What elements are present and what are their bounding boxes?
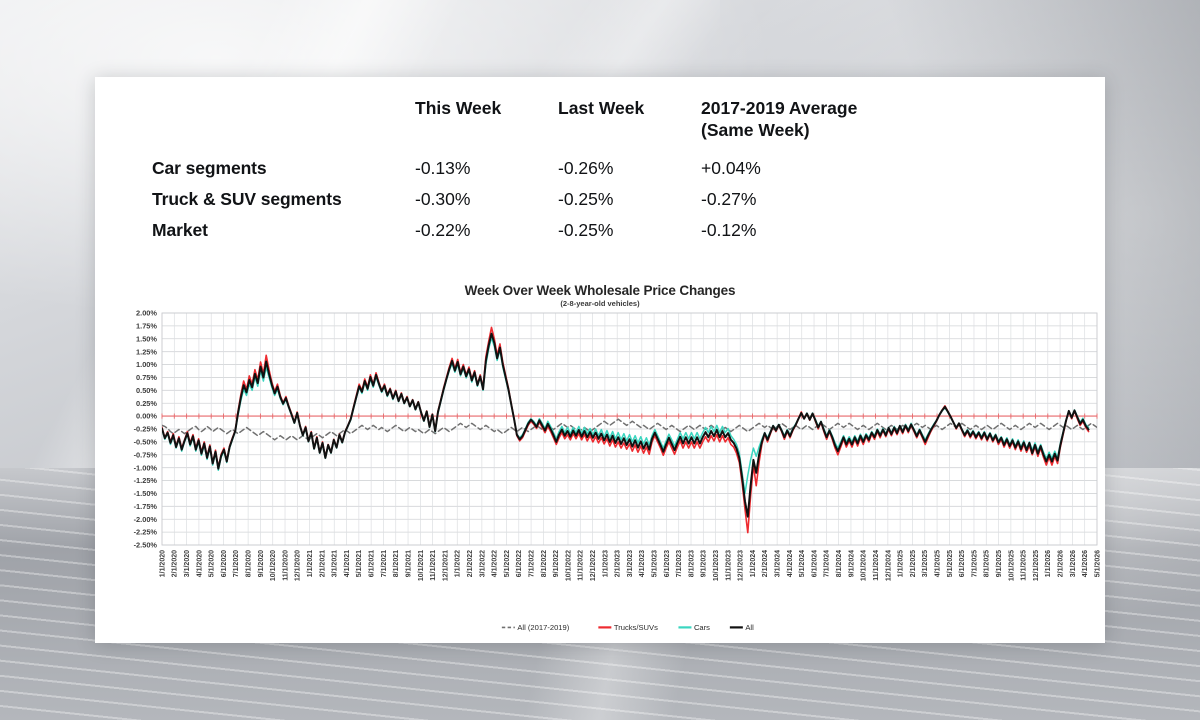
svg-text:7/1/2022: 7/1/2022 xyxy=(528,550,535,577)
svg-text:-1.25%: -1.25% xyxy=(134,476,158,485)
svg-text:1.25%: 1.25% xyxy=(136,347,157,356)
svg-text:4/1/2022: 4/1/2022 xyxy=(492,550,499,577)
svg-text:8/1/2025: 8/1/2025 xyxy=(984,550,991,577)
table-row: Market -0.22% -0.25% -0.12% xyxy=(95,220,1105,241)
svg-text:1/1/2020: 1/1/2020 xyxy=(159,550,166,577)
svg-text:3/1/2021: 3/1/2021 xyxy=(332,550,339,577)
svg-text:10/1/2025: 10/1/2025 xyxy=(1008,550,1015,581)
svg-text:1.50%: 1.50% xyxy=(136,334,157,343)
svg-text:11/1/2021: 11/1/2021 xyxy=(430,550,437,581)
chart-subtitle: (2-8-year-old vehicles) xyxy=(95,299,1105,308)
row-label-truck-suv-segments: Truck & SUV segments xyxy=(95,189,415,210)
svg-text:4/1/2024: 4/1/2024 xyxy=(787,550,794,577)
column-header-last-week: Last Week xyxy=(558,97,701,119)
content-card: This Week Last Week 2017-2019 Average (S… xyxy=(95,77,1105,643)
svg-text:0.50%: 0.50% xyxy=(136,386,157,395)
svg-text:2/1/2022: 2/1/2022 xyxy=(467,550,474,577)
svg-text:10/1/2024: 10/1/2024 xyxy=(861,550,868,581)
svg-text:2/1/2021: 2/1/2021 xyxy=(319,550,326,577)
svg-text:8/1/2021: 8/1/2021 xyxy=(393,550,400,577)
svg-text:2/1/2025: 2/1/2025 xyxy=(910,550,917,577)
svg-text:12/1/2023: 12/1/2023 xyxy=(738,550,745,581)
svg-text:7/1/2020: 7/1/2020 xyxy=(233,550,240,577)
svg-text:9/1/2021: 9/1/2021 xyxy=(405,550,412,577)
column-header-this-week: This Week xyxy=(415,97,558,119)
column-header-average-line1: 2017-2019 Average xyxy=(701,97,961,119)
svg-text:4/1/2023: 4/1/2023 xyxy=(639,550,646,577)
week-over-week-price-change-line-chart: 2.00%1.75%1.50%1.25%1.00%0.75%0.50%0.25%… xyxy=(95,308,1105,643)
svg-text:1/1/2021: 1/1/2021 xyxy=(307,550,314,577)
svg-text:5/1/2023: 5/1/2023 xyxy=(652,550,659,577)
truck-suv-average: -0.27% xyxy=(701,189,961,210)
svg-text:1.75%: 1.75% xyxy=(136,321,157,330)
summary-header-row: This Week Last Week 2017-2019 Average (S… xyxy=(95,77,1105,141)
svg-text:11/1/2024: 11/1/2024 xyxy=(873,550,880,581)
svg-text:-1.00%: -1.00% xyxy=(134,463,158,472)
svg-text:1/1/2025: 1/1/2025 xyxy=(898,550,905,577)
svg-text:-0.25%: -0.25% xyxy=(134,425,158,434)
svg-text:2.00%: 2.00% xyxy=(136,309,157,318)
svg-text:-2.00%: -2.00% xyxy=(134,515,158,524)
svg-text:12/1/2020: 12/1/2020 xyxy=(295,550,302,581)
svg-text:2/1/2026: 2/1/2026 xyxy=(1057,550,1064,577)
svg-text:All: All xyxy=(745,623,754,632)
svg-text:3/1/2022: 3/1/2022 xyxy=(479,550,486,577)
svg-text:6/1/2021: 6/1/2021 xyxy=(369,550,376,577)
svg-text:1.00%: 1.00% xyxy=(136,360,157,369)
svg-text:3/1/2024: 3/1/2024 xyxy=(775,550,782,577)
svg-text:5/1/2022: 5/1/2022 xyxy=(504,550,511,577)
svg-text:1/1/2022: 1/1/2022 xyxy=(455,550,462,577)
car-segments-average: +0.04% xyxy=(701,158,961,179)
car-segments-last-week: -0.26% xyxy=(558,158,701,179)
table-row: Car segments -0.13% -0.26% +0.04% xyxy=(95,158,1105,179)
summary-table: This Week Last Week 2017-2019 Average (S… xyxy=(95,77,1105,241)
svg-text:4/1/2021: 4/1/2021 xyxy=(344,550,351,577)
svg-text:11/1/2020: 11/1/2020 xyxy=(282,550,289,581)
table-row: Truck & SUV segments -0.30% -0.25% -0.27… xyxy=(95,189,1105,210)
svg-text:7/1/2023: 7/1/2023 xyxy=(676,550,683,577)
svg-text:9/1/2020: 9/1/2020 xyxy=(258,550,265,577)
svg-text:10/1/2021: 10/1/2021 xyxy=(418,550,425,581)
svg-text:10/1/2020: 10/1/2020 xyxy=(270,550,277,581)
svg-text:1/1/2023: 1/1/2023 xyxy=(602,550,609,577)
svg-text:12/1/2025: 12/1/2025 xyxy=(1033,550,1040,581)
svg-text:12/1/2024: 12/1/2024 xyxy=(885,550,892,581)
svg-text:-2.25%: -2.25% xyxy=(134,528,158,537)
svg-text:0.25%: 0.25% xyxy=(136,399,157,408)
svg-text:12/1/2021: 12/1/2021 xyxy=(442,550,449,581)
svg-text:4/1/2020: 4/1/2020 xyxy=(196,550,203,577)
chart-container: Week Over Week Wholesale Price Changes (… xyxy=(95,277,1105,643)
svg-text:6/1/2024: 6/1/2024 xyxy=(811,550,818,577)
row-label-market: Market xyxy=(95,220,415,241)
svg-text:3/1/2023: 3/1/2023 xyxy=(627,550,634,577)
svg-text:9/1/2022: 9/1/2022 xyxy=(553,550,560,577)
svg-text:10/1/2022: 10/1/2022 xyxy=(565,550,572,581)
svg-text:-0.75%: -0.75% xyxy=(134,450,158,459)
svg-text:2/1/2020: 2/1/2020 xyxy=(172,550,179,577)
svg-text:2/1/2023: 2/1/2023 xyxy=(615,550,622,577)
svg-text:9/1/2025: 9/1/2025 xyxy=(996,550,1003,577)
svg-text:3/1/2026: 3/1/2026 xyxy=(1070,550,1077,577)
svg-text:-0.50%: -0.50% xyxy=(134,437,158,446)
svg-text:11/1/2023: 11/1/2023 xyxy=(725,550,732,581)
svg-text:6/1/2022: 6/1/2022 xyxy=(516,550,523,577)
svg-text:-2.50%: -2.50% xyxy=(134,541,158,550)
market-last-week: -0.25% xyxy=(558,220,701,241)
svg-text:0.75%: 0.75% xyxy=(136,373,157,382)
svg-text:9/1/2024: 9/1/2024 xyxy=(848,550,855,577)
svg-text:3/1/2025: 3/1/2025 xyxy=(922,550,929,577)
svg-text:8/1/2024: 8/1/2024 xyxy=(836,550,843,577)
svg-text:0.00%: 0.00% xyxy=(136,412,157,421)
svg-text:Cars: Cars xyxy=(694,623,710,632)
column-header-average: 2017-2019 Average (Same Week) xyxy=(701,97,961,141)
svg-text:2/1/2024: 2/1/2024 xyxy=(762,550,769,577)
svg-text:6/1/2025: 6/1/2025 xyxy=(959,550,966,577)
svg-text:6/1/2020: 6/1/2020 xyxy=(221,550,228,577)
svg-text:1/1/2026: 1/1/2026 xyxy=(1045,550,1052,577)
svg-text:7/1/2025: 7/1/2025 xyxy=(971,550,978,577)
svg-text:3/1/2020: 3/1/2020 xyxy=(184,550,191,577)
truck-suv-last-week: -0.25% xyxy=(558,189,701,210)
svg-text:10/1/2023: 10/1/2023 xyxy=(713,550,720,581)
svg-text:Trucks/SUVs: Trucks/SUVs xyxy=(614,623,658,632)
svg-text:8/1/2023: 8/1/2023 xyxy=(688,550,695,577)
svg-text:11/1/2025: 11/1/2025 xyxy=(1021,550,1028,581)
svg-text:6/1/2023: 6/1/2023 xyxy=(664,550,671,577)
row-label-car-segments: Car segments xyxy=(95,158,415,179)
svg-text:8/1/2022: 8/1/2022 xyxy=(541,550,548,577)
svg-text:7/1/2024: 7/1/2024 xyxy=(824,550,831,577)
svg-text:8/1/2020: 8/1/2020 xyxy=(246,550,253,577)
svg-text:5/1/2026: 5/1/2026 xyxy=(1094,550,1101,577)
svg-text:12/1/2022: 12/1/2022 xyxy=(590,550,597,581)
market-average: -0.12% xyxy=(701,220,961,241)
svg-text:5/1/2025: 5/1/2025 xyxy=(947,550,954,577)
market-this-week: -0.22% xyxy=(415,220,558,241)
svg-text:5/1/2021: 5/1/2021 xyxy=(356,550,363,577)
svg-text:9/1/2023: 9/1/2023 xyxy=(701,550,708,577)
svg-text:5/1/2020: 5/1/2020 xyxy=(209,550,216,577)
svg-text:5/1/2024: 5/1/2024 xyxy=(799,550,806,577)
column-header-average-line2: (Same Week) xyxy=(701,119,961,141)
svg-text:-1.50%: -1.50% xyxy=(134,489,158,498)
chart-title: Week Over Week Wholesale Price Changes xyxy=(95,283,1105,298)
svg-text:4/1/2025: 4/1/2025 xyxy=(934,550,941,577)
svg-text:1/1/2024: 1/1/2024 xyxy=(750,550,757,577)
svg-text:All (2017-2019): All (2017-2019) xyxy=(517,623,569,632)
svg-text:11/1/2022: 11/1/2022 xyxy=(578,550,585,581)
svg-text:-1.75%: -1.75% xyxy=(134,502,158,511)
svg-text:4/1/2026: 4/1/2026 xyxy=(1082,550,1089,577)
truck-suv-this-week: -0.30% xyxy=(415,189,558,210)
svg-text:7/1/2021: 7/1/2021 xyxy=(381,550,388,577)
car-segments-this-week: -0.13% xyxy=(415,158,558,179)
